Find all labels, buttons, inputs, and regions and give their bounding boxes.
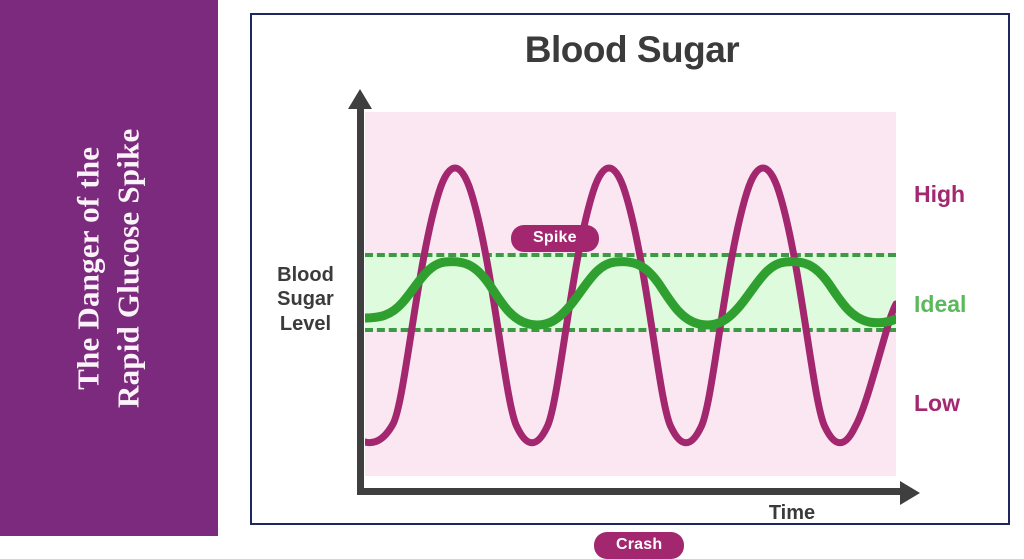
chart-title: Blood Sugar (252, 29, 1012, 71)
legend-label-ideal: Ideal (914, 291, 1010, 318)
poster-title-line-2: Rapid Glucose Spike (109, 128, 149, 407)
y-axis-label-line-2: Sugar (258, 287, 353, 311)
legend-label-high: High (914, 181, 1010, 208)
steady-glucose-line (365, 262, 896, 325)
glucose-curves (365, 112, 896, 476)
plot-area: Spike Crash (365, 112, 896, 476)
crash-annotation-pill: Crash (594, 532, 684, 559)
poster-canvas: The Danger of the Rapid Glucose Spike Bl… (0, 0, 1024, 536)
y-axis-label-line-3: Level (258, 312, 353, 336)
spike-annotation-pill: Spike (511, 225, 599, 252)
left-title-panel: The Danger of the Rapid Glucose Spike (0, 0, 218, 536)
x-axis-label: Time (722, 502, 862, 525)
chart-card: Blood Sugar Spike Crash Blood Sugar L (250, 13, 1010, 525)
poster-title: The Danger of the Rapid Glucose Spike (69, 128, 150, 407)
left-title-wrapper: The Danger of the Rapid Glucose Spike (0, 0, 218, 536)
y-axis-line (357, 103, 364, 495)
legend-label-low: Low (914, 390, 1010, 417)
x-axis-arrow-icon (900, 481, 920, 505)
y-axis-label-line-1: Blood (258, 263, 353, 287)
spiking-glucose-line (365, 168, 896, 443)
poster-title-line-1: The Danger of the (69, 128, 109, 407)
x-axis-line (357, 488, 902, 495)
y-axis-label: Blood Sugar Level (258, 263, 353, 336)
y-axis-arrow-icon (348, 89, 372, 109)
